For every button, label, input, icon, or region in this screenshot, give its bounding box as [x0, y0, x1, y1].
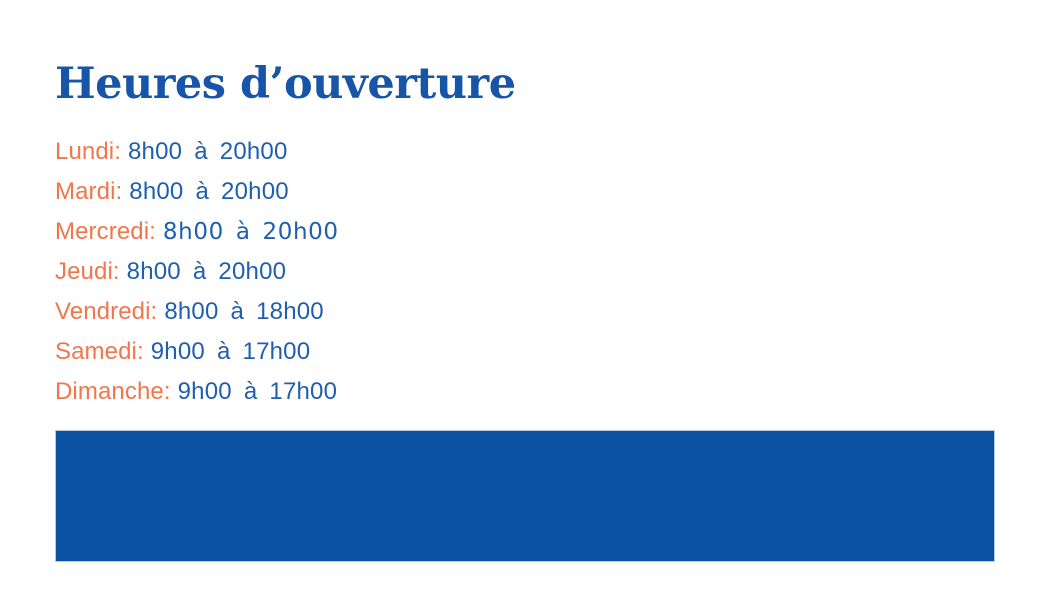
opening-hours-list: Lundi:8h00à20h00 Mardi:8h00à20h00 Mercre… — [55, 132, 339, 412]
open-time: 8h00 — [164, 298, 218, 325]
list-item: Jeudi:8h00à20h00 — [55, 252, 339, 292]
list-item: Samedi:9h00à17h00 — [55, 332, 339, 372]
time-separator: à — [188, 258, 212, 285]
list-item: Vendredi:8h00à18h00 — [55, 292, 339, 332]
page-title: Heures d’ouverture — [55, 58, 516, 110]
list-item: Mercredi:8h00à20h00 — [55, 212, 339, 252]
open-time: 8h00 — [128, 138, 182, 165]
close-time: 20h00 — [218, 258, 286, 285]
time-separator: à — [189, 138, 213, 165]
day-label: Dimanche: — [55, 378, 171, 405]
time-separator: à — [239, 378, 263, 405]
day-label: Vendredi: — [55, 298, 157, 325]
list-item: Dimanche:9h00à17h00 — [55, 372, 339, 412]
open-time: 9h00 — [151, 338, 205, 365]
blue-banner-block — [55, 430, 995, 562]
time-separator: à — [226, 298, 250, 325]
close-time: 17h00 — [243, 338, 311, 365]
open-time: 8h00 — [163, 219, 224, 245]
close-time: 17h00 — [269, 378, 337, 405]
close-time: 20h00 — [221, 178, 289, 205]
open-time: 8h00 — [129, 178, 183, 205]
day-label: Mardi: — [55, 178, 122, 205]
slide-canvas: Heures d’ouverture Lundi:8h00à20h00 Mard… — [0, 0, 1050, 600]
open-time: 8h00 — [127, 258, 181, 285]
day-label: Lundi: — [55, 138, 121, 165]
list-item: Mardi:8h00à20h00 — [55, 172, 339, 212]
close-time: 18h00 — [256, 298, 324, 325]
time-separator: à — [231, 219, 256, 245]
day-label: Samedi: — [55, 338, 144, 365]
day-label: Mercredi: — [55, 218, 156, 245]
open-time: 9h00 — [178, 378, 232, 405]
time-separator: à — [190, 178, 214, 205]
day-label: Jeudi: — [55, 258, 120, 285]
close-time: 20h00 — [263, 219, 339, 245]
list-item: Lundi:8h00à20h00 — [55, 132, 339, 172]
time-separator: à — [212, 338, 236, 365]
close-time: 20h00 — [220, 138, 288, 165]
